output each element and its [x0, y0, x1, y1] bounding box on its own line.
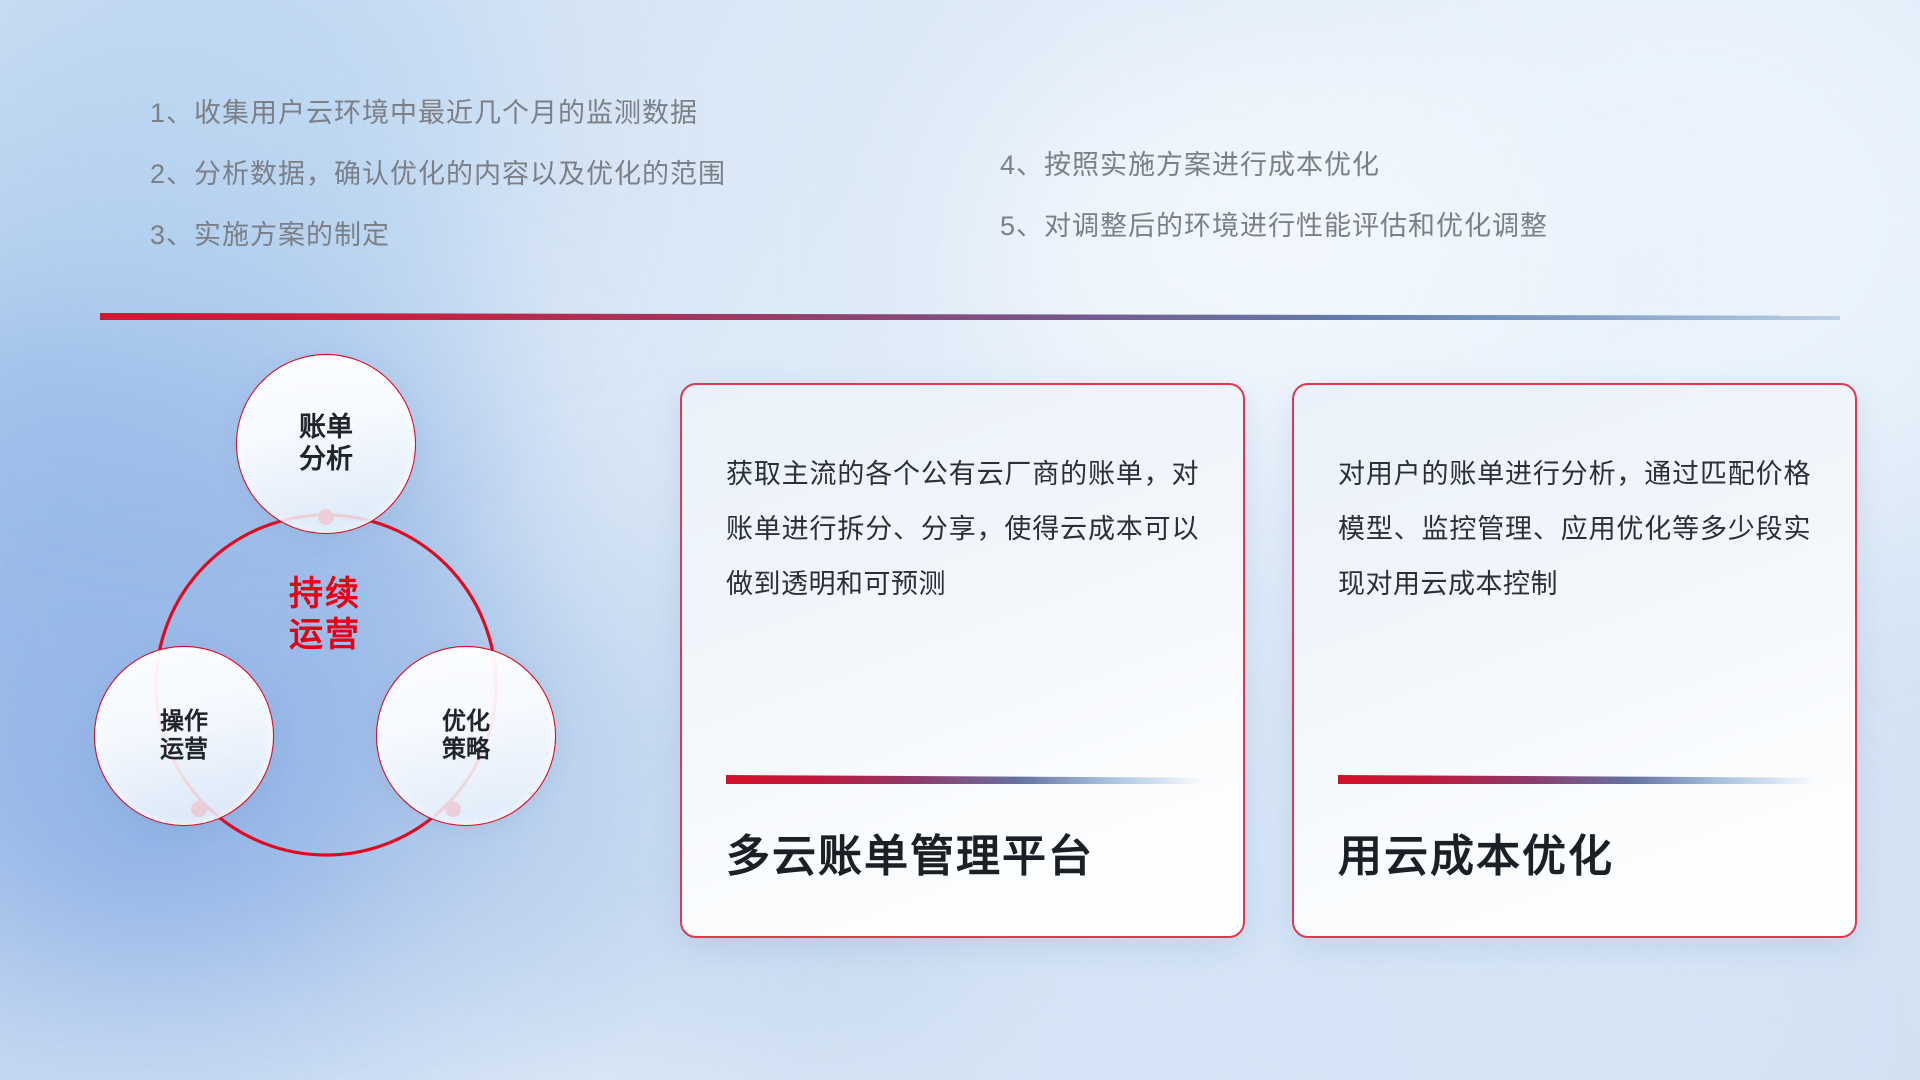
info-card-cost-optimization-title: 用云成本优化: [1338, 820, 1614, 884]
info-card-cost-optimization-rule: [1338, 775, 1816, 784]
step-item-4: 4、按照实施方案进行成本优化: [1000, 152, 1548, 179]
slide-canvas: 1、收集用户云环境中最近几个月的监测数据 2、分析数据，确认优化的内容以及优化的…: [0, 0, 1920, 1080]
venn-bubble-strategy-line1: 优化: [442, 708, 490, 736]
info-card-cost-optimization-body: 对用户的账单进行分析，通过匹配价格模型、监控管理、应用优化等多少段实现对用云成本…: [1338, 447, 1811, 611]
venn-bubble-operations-line2: 运营: [160, 736, 208, 764]
venn-bubble-billing[interactable]: 账单 分析: [237, 355, 415, 533]
venn-bubble-operations[interactable]: 操作 运营: [95, 647, 273, 825]
info-card-billing-platform-title: 多云账单管理平台: [726, 820, 1094, 884]
venn-diagram: 账单 分析 操作 运营 优化 策略 持续 运营: [95, 355, 635, 955]
info-card-cost-optimization[interactable]: 对用户的账单进行分析，通过匹配价格模型、监控管理、应用优化等多少段实现对用云成本…: [1292, 383, 1857, 938]
info-card-billing-platform-body: 获取主流的各个公有云厂商的账单，对账单进行拆分、分享，使得云成本可以做到透明和可…: [726, 447, 1199, 611]
venn-bubble-operations-line1: 操作: [160, 708, 208, 736]
venn-bubble-billing-line2: 分析: [299, 444, 353, 476]
venn-center-line2: 运营: [289, 615, 361, 656]
venn-center-label: 持续 运营: [255, 555, 395, 675]
step-item-2: 2、分析数据，确认优化的内容以及优化的范围: [150, 161, 726, 188]
venn-bubble-billing-line1: 账单: [299, 412, 353, 444]
info-card-billing-platform[interactable]: 获取主流的各个公有云厂商的账单，对账单进行拆分、分享，使得云成本可以做到透明和可…: [680, 383, 1245, 938]
step-item-1: 1、收集用户云环境中最近几个月的监测数据: [150, 100, 726, 127]
venn-center-line1: 持续: [289, 574, 361, 615]
steps-list-left: 1、收集用户云环境中最近几个月的监测数据 2、分析数据，确认优化的内容以及优化的…: [150, 100, 726, 249]
section-divider: [100, 313, 1840, 320]
step-item-5: 5、对调整后的环境进行性能评估和优化调整: [1000, 213, 1548, 240]
step-item-3: 3、实施方案的制定: [150, 222, 726, 249]
info-card-billing-platform-rule: [726, 775, 1204, 784]
venn-bubble-strategy[interactable]: 优化 策略: [377, 647, 555, 825]
steps-list-right: 4、按照实施方案进行成本优化 5、对调整后的环境进行性能评估和优化调整: [1000, 152, 1548, 240]
venn-bubble-strategy-line2: 策略: [442, 736, 490, 764]
